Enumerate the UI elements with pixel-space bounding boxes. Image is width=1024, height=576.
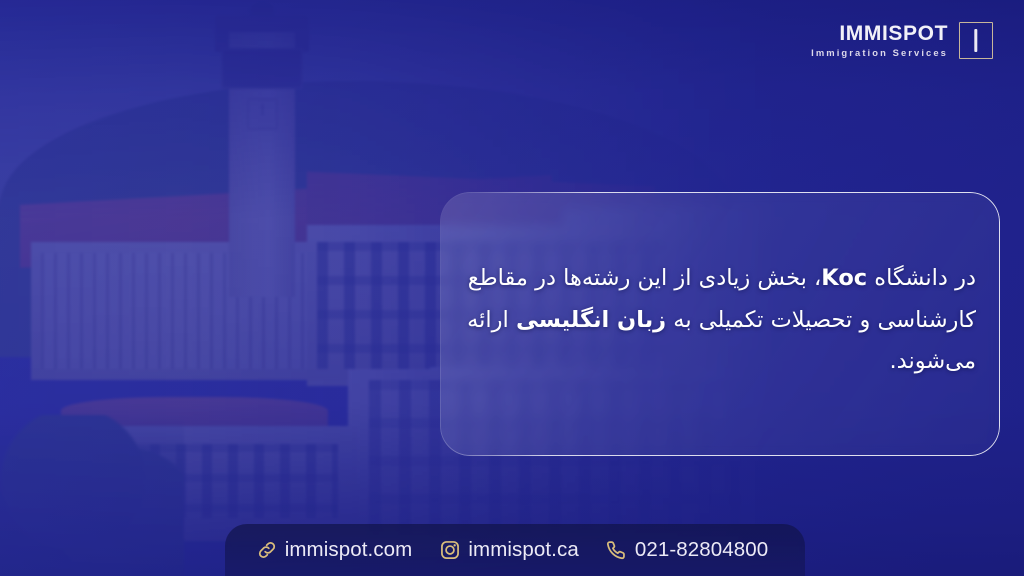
card-body-text: در دانشگاه Koc، بخش زیادی از این رشته‌ها… [430, 258, 990, 383]
contact-item-website[interactable]: immispot.com [256, 538, 413, 562]
line1-suffix: ، بخش زیادی از این رشته‌ها در مقاطع [468, 265, 822, 291]
phone-icon [606, 539, 628, 561]
card-text-line-1: در دانشگاه Koc، بخش زیادی از این رشته‌ها… [436, 258, 976, 300]
link-icon [256, 539, 278, 561]
slide-canvas: IMMISPOT Immigration Services در دانشگاه… [0, 0, 1024, 576]
line1-highlight: Koc [821, 265, 867, 291]
immispot-mark-icon [959, 22, 993, 59]
line2-highlight: زبان انگلیسی [516, 307, 666, 333]
website-label: immispot.com [285, 538, 413, 562]
card-text-line-2: کارشناسی و تحصیلات تکمیلی به زبان انگلیس… [436, 300, 976, 383]
contact-bar: immispot.com immispot.ca 021-82804800 [0, 524, 1024, 576]
contact-item-instagram[interactable]: immispot.ca [439, 538, 578, 562]
logo-tagline: Immigration Services [811, 48, 948, 57]
phone-label: 021-82804800 [635, 538, 768, 562]
line2-prefix: کارشناسی و تحصیلات تکمیلی به [666, 307, 976, 333]
instagram-icon [439, 539, 461, 561]
immispot-logo[interactable]: IMMISPOT Immigration Services [811, 22, 993, 59]
contact-item-phone[interactable]: 021-82804800 [606, 538, 768, 562]
line1-prefix: در دانشگاه [867, 265, 976, 291]
logo-brand-name: IMMISPOT [839, 23, 948, 44]
instagram-label: immispot.ca [468, 538, 578, 562]
